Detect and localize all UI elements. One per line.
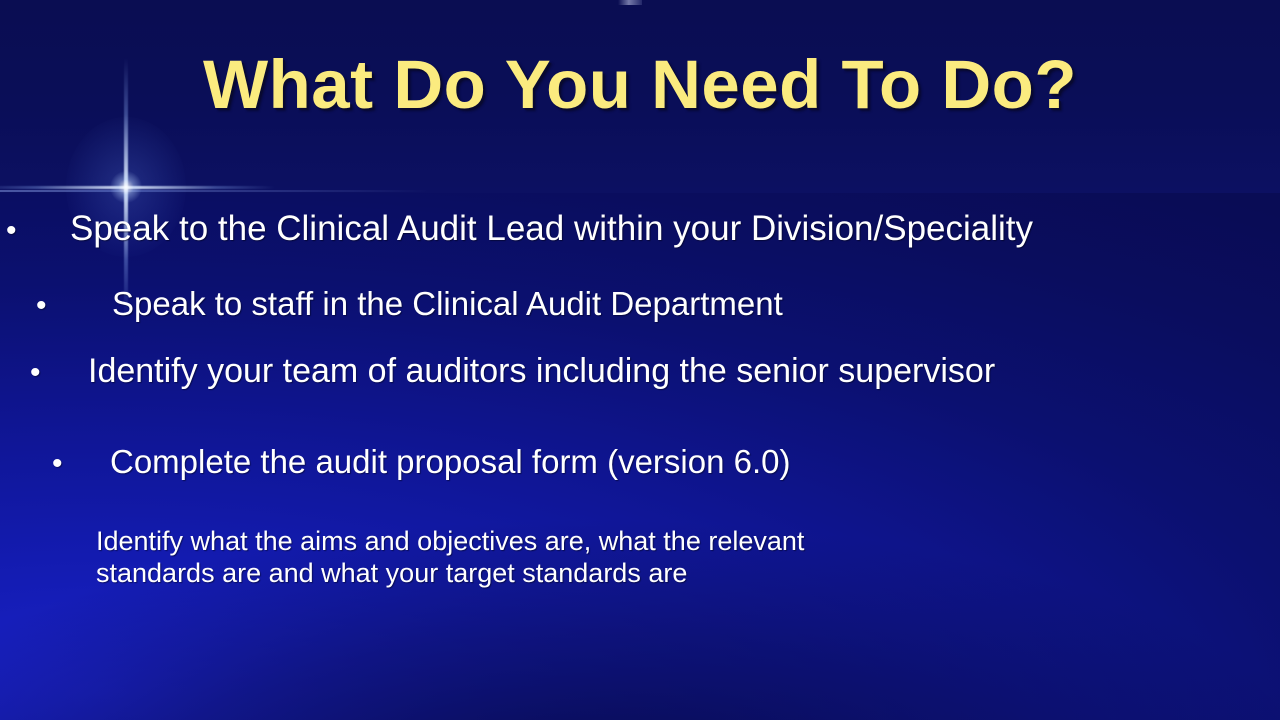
slide-body: • Speak to the Clinical Audit Lead withi… xyxy=(0,193,1280,720)
background-hairline xyxy=(0,190,430,192)
bullet-item-4-label: Complete the audit proposal form (versio… xyxy=(110,443,791,481)
bullet-item-1-label: Speak to the Clinical Audit Lead within … xyxy=(70,209,1033,249)
bullet-item-3-label: Identify your team of auditors including… xyxy=(88,352,995,391)
slide-subtext: Identify what the aims and objectives ar… xyxy=(96,525,1076,589)
slide-subtext-line-2: standards are and what your target stand… xyxy=(96,557,1076,589)
bullet-marker-icon: • xyxy=(46,449,110,479)
background-top-seam xyxy=(618,0,642,5)
bullet-item-2-label: Speak to staff in the Clinical Audit Dep… xyxy=(112,285,783,323)
bullet-item-2: • Speak to staff in the Clinical Audit D… xyxy=(30,285,783,323)
slide-title: What Do You Need To Do? xyxy=(0,45,1280,124)
bullet-marker-icon: • xyxy=(30,291,112,321)
slide-subtext-line-1: Identify what the aims and objectives ar… xyxy=(96,525,1076,557)
bullet-item-3: • Identify your team of auditors includi… xyxy=(24,352,995,391)
bullet-marker-icon: • xyxy=(0,216,70,246)
bullet-marker-icon: • xyxy=(24,358,88,388)
presentation-slide: What Do You Need To Do? • Speak to the C… xyxy=(0,0,1280,720)
bullet-item-1: • Speak to the Clinical Audit Lead withi… xyxy=(0,209,1033,249)
bullet-item-4: • Complete the audit proposal form (vers… xyxy=(46,443,791,481)
